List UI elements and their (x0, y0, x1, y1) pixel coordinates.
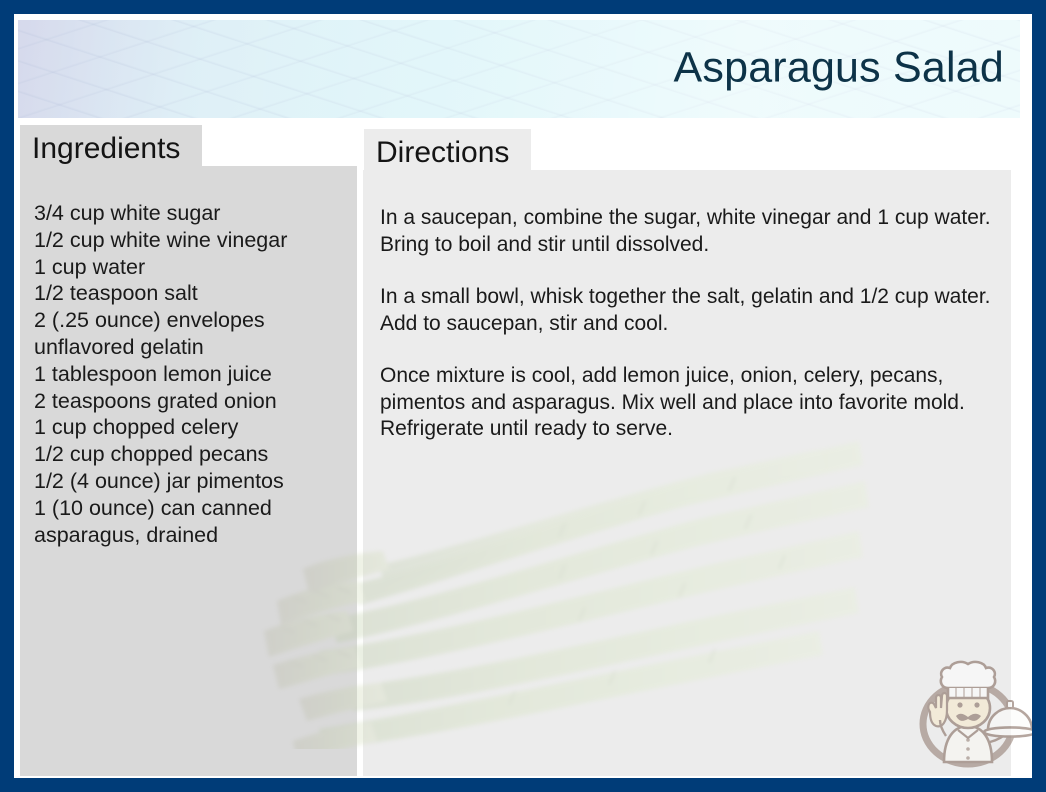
list-item: 1 tablespoon lemon juice (34, 361, 349, 388)
list-item: 1/2 (4 ounce) jar pimentos (34, 468, 349, 495)
direction-step: Once mixture is cool, add lemon juice, o… (380, 363, 997, 443)
ingredients-list: 3/4 cup white sugar 1/2 cup white wine v… (34, 200, 349, 548)
direction-step: In a small bowl, whisk together the salt… (380, 284, 997, 337)
directions-text: In a saucepan, combine the sugar, white … (380, 205, 997, 443)
recipe-card: Asparagus Salad Ingredients Directions 3… (0, 0, 1046, 792)
ingredients-panel: 3/4 cup white sugar 1/2 cup white wine v… (20, 166, 357, 776)
tab-directions[interactable]: Directions (364, 129, 531, 176)
directions-panel: In a saucepan, combine the sugar, white … (363, 170, 1011, 776)
list-item: 2 teaspoons grated onion (34, 388, 349, 415)
list-item: unflavored gelatin (34, 334, 349, 361)
page-title: Asparagus Salad (674, 47, 1005, 90)
list-item: 1/2 teaspoon salt (34, 280, 349, 307)
list-item: 2 (.25 ounce) envelopes (34, 307, 349, 334)
list-item: 1 cup chopped celery (34, 414, 349, 441)
direction-step: In a saucepan, combine the sugar, white … (380, 205, 997, 258)
list-item: 3/4 cup white sugar (34, 200, 349, 227)
list-item: 1/2 cup chopped pecans (34, 441, 349, 468)
recipe-page: Asparagus Salad Ingredients Directions 3… (14, 14, 1032, 778)
list-item: asparagus, drained (34, 522, 349, 549)
list-item: 1 cup water (34, 254, 349, 281)
list-item: 1/2 cup white wine vinegar (34, 227, 349, 254)
tab-ingredients[interactable]: Ingredients (20, 125, 202, 172)
header-banner: Asparagus Salad (18, 20, 1020, 118)
list-item: 1 (10 ounce) can canned (34, 495, 349, 522)
